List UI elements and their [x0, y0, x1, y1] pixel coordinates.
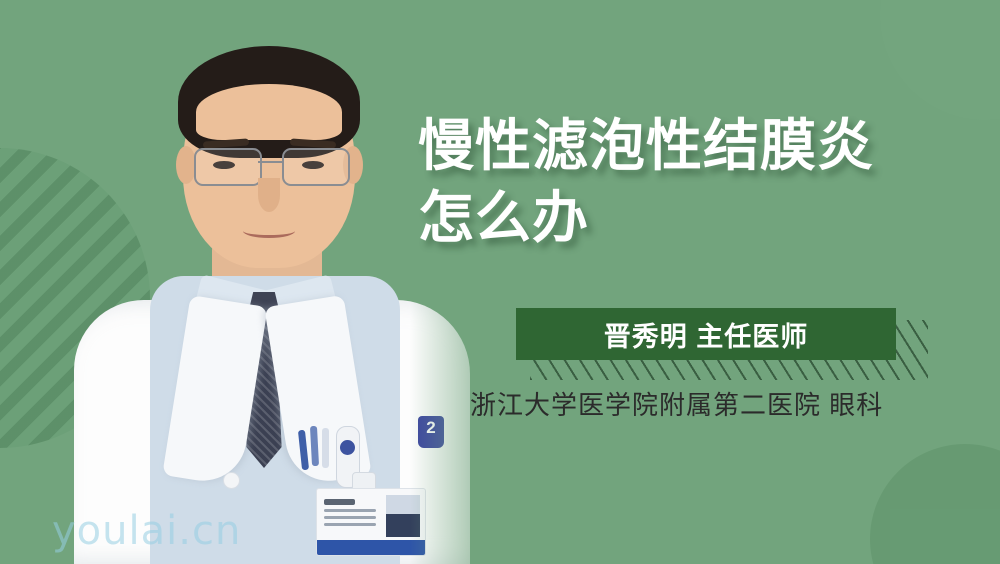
page-title-line-2: 怎么办 — [418, 182, 978, 254]
page-title: 慢性滤泡性结膜炎 怎么办 — [418, 110, 978, 253]
decorative-circle-top-right-icon — [880, 0, 1000, 120]
badge-plate: 晋秀明 主任医师 — [516, 308, 896, 360]
mouth — [243, 224, 295, 238]
pen-icon — [322, 428, 329, 468]
doctor-name-and-title: 晋秀明 主任医师 — [604, 315, 809, 354]
eyeglass-bridge — [258, 161, 282, 163]
decorative-circle-bottom-right-icon — [870, 444, 1000, 564]
watermark: youlai.cn — [52, 508, 241, 554]
hospital-shoulder-patch: 2 — [418, 416, 444, 448]
penlight-emblem — [340, 440, 355, 455]
nose — [258, 178, 280, 212]
forehead — [196, 84, 342, 140]
eyeglass-lens-left — [194, 148, 262, 186]
eyeglass-lens-right — [282, 148, 350, 186]
id-card-badge — [316, 488, 426, 556]
page-title-line-1: 慢性滤泡性结膜炎 — [418, 110, 978, 182]
doctor-portrait-photo: 2 — [0, 0, 500, 564]
coat-button — [223, 472, 240, 489]
id-card-footer-bar — [317, 540, 425, 555]
video-cover-poster: 2 youlai.cn 慢性滤泡性结膜炎 怎么办 晋秀明 主任医师 浙江大学医学… — [0, 0, 1000, 564]
doctor-name-badge: 晋秀明 主任医师 — [516, 308, 928, 380]
id-card-photo — [386, 495, 420, 537]
id-card-text-lines — [324, 499, 376, 530]
hospital-department-label: 浙江大学医学院附属第二医院 眼科 — [470, 385, 883, 422]
